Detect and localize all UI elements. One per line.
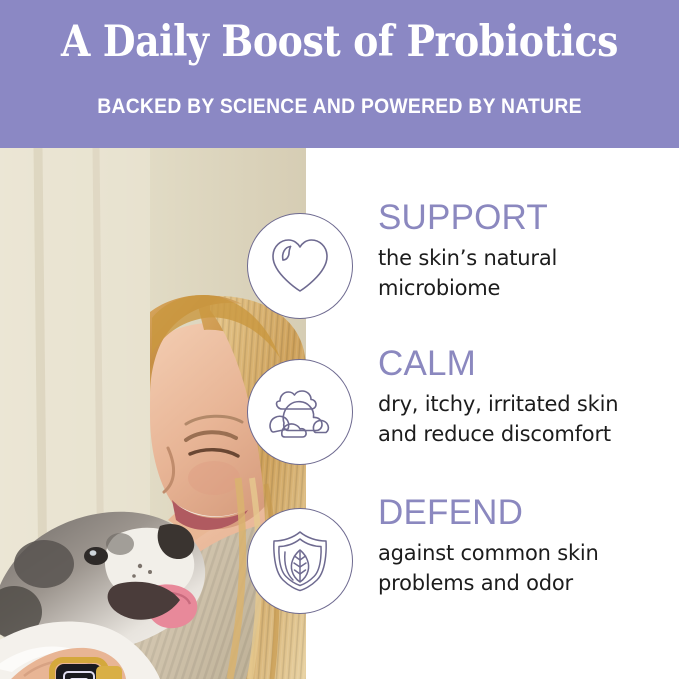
feature-body-line: microbiome bbox=[378, 273, 678, 303]
feature-body-support: the skin’s natural microbiome bbox=[378, 243, 678, 303]
feature-body-defend: against common skin problems and odor bbox=[378, 538, 678, 598]
features-list: SUPPORT the skin’s natural microbiome CA… bbox=[306, 148, 679, 679]
feature-title-support: SUPPORT bbox=[378, 198, 548, 238]
page-title: A Daily Boost of Probiotics bbox=[41, 16, 639, 68]
heart-icon bbox=[268, 236, 332, 296]
feature-title-calm: CALM bbox=[378, 344, 476, 384]
feature-body-line: against common skin bbox=[378, 538, 678, 568]
feature-body-line: dry, itchy, irritated skin bbox=[378, 389, 678, 419]
feature-body-line: and reduce discomfort bbox=[378, 419, 678, 449]
clouds-icon-badge bbox=[247, 359, 353, 465]
page-subtitle: BACKED BY SCIENCE AND POWERED BY NATURE bbox=[27, 94, 652, 120]
clouds-icon bbox=[266, 383, 334, 441]
feature-title-defend: DEFEND bbox=[378, 493, 523, 533]
feature-body-calm: dry, itchy, irritated skin and reduce di… bbox=[378, 389, 678, 449]
feature-body-line: the skin’s natural bbox=[378, 243, 678, 273]
heart-icon-badge bbox=[247, 213, 353, 319]
shield-leaf-icon bbox=[269, 529, 331, 593]
feature-body-line: problems and odor bbox=[378, 568, 678, 598]
header-band: A Daily Boost of Probiotics BACKED BY SC… bbox=[0, 0, 679, 148]
probiotics-infographic: A Daily Boost of Probiotics BACKED BY SC… bbox=[0, 0, 679, 679]
shield-leaf-icon-badge bbox=[247, 508, 353, 614]
